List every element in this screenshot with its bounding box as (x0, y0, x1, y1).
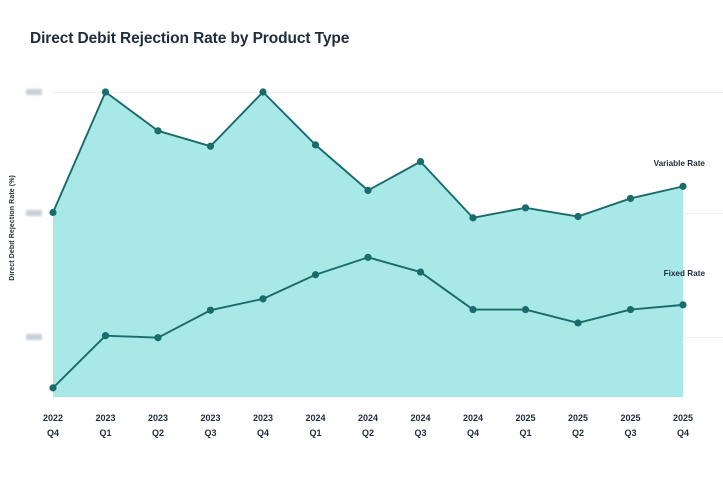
data-point-marker[interactable] (679, 301, 686, 308)
data-point-marker[interactable] (627, 306, 634, 313)
data-point-marker[interactable] (102, 88, 109, 95)
data-point-marker[interactable] (679, 183, 686, 190)
data-point-marker[interactable] (364, 254, 371, 261)
data-point-marker[interactable] (417, 268, 424, 275)
data-point-marker[interactable] (207, 143, 214, 150)
data-point-marker[interactable] (469, 306, 476, 313)
area-fills (53, 92, 683, 397)
data-point-marker[interactable] (154, 334, 161, 341)
area-fill-variable-rate (53, 92, 683, 397)
x-axis-tick-year: 2025 (651, 411, 715, 426)
series-label-fixed-rate: Fixed Rate (664, 269, 705, 278)
data-point-marker[interactable] (522, 204, 529, 211)
series-label-variable-rate: Variable Rate (654, 159, 705, 168)
chart-container: Direct Debit Rejection Rate by Product T… (0, 0, 723, 488)
data-point-marker[interactable] (574, 319, 581, 326)
data-point-marker[interactable] (207, 307, 214, 314)
data-point-marker[interactable] (364, 187, 371, 194)
data-point-marker[interactable] (627, 195, 634, 202)
data-point-marker[interactable] (49, 384, 56, 391)
data-point-marker[interactable] (259, 295, 266, 302)
data-point-marker[interactable] (312, 271, 319, 278)
data-point-marker[interactable] (154, 127, 161, 134)
data-point-marker[interactable] (469, 214, 476, 221)
x-axis-tick-quarter: Q4 (651, 426, 715, 441)
data-point-marker[interactable] (312, 141, 319, 148)
data-point-marker[interactable] (259, 88, 266, 95)
data-point-marker[interactable] (417, 158, 424, 165)
data-point-marker[interactable] (574, 213, 581, 220)
data-point-marker[interactable] (49, 209, 56, 216)
data-point-marker[interactable] (102, 332, 109, 339)
data-point-marker[interactable] (522, 306, 529, 313)
x-axis-tick-label: 2025Q4 (651, 411, 715, 441)
